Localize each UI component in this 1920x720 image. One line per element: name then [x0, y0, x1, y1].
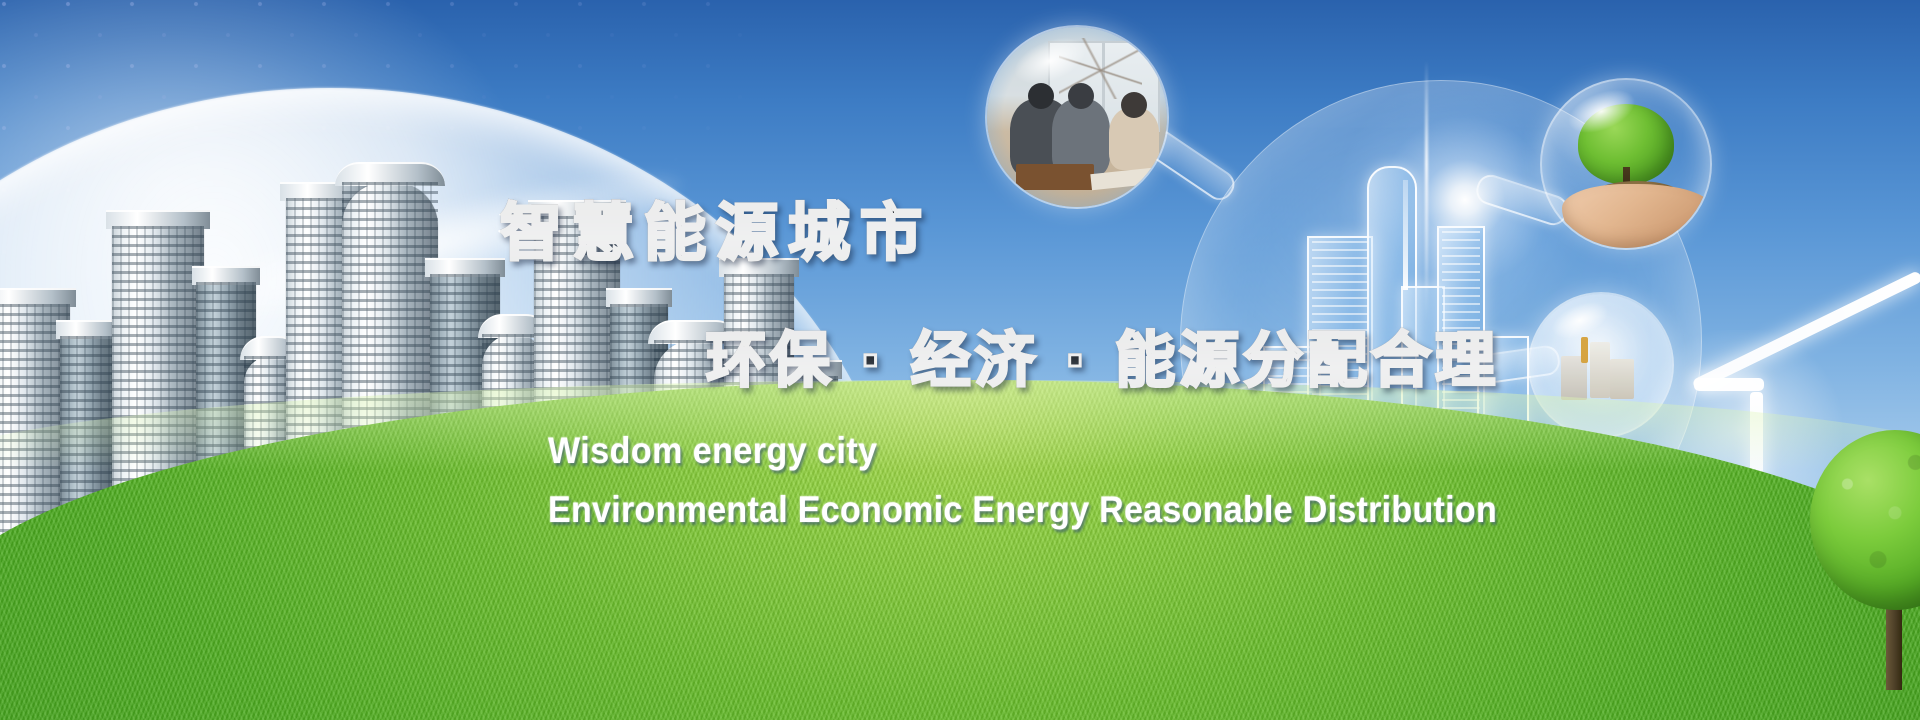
house-eave: [1694, 378, 1764, 391]
person-head: [1028, 83, 1054, 109]
bubble-tree-in-hand: [1540, 78, 1712, 250]
tower-cap: [606, 288, 672, 307]
tower-cap: [192, 266, 260, 285]
glass-building-spire: [1403, 180, 1408, 290]
hand-icon: [1562, 184, 1712, 250]
town-tower: [1581, 337, 1588, 363]
tower-cap: [106, 210, 211, 229]
child-figure: [1109, 108, 1159, 170]
tower-cap: [425, 258, 505, 277]
wooden-box: [1016, 164, 1094, 190]
tower-cap: [0, 288, 76, 307]
subheadline-chinese: 环保 · 经济 · 能源分配合理: [706, 312, 1499, 399]
round-tree: [1810, 430, 1920, 720]
energy-city-banner: 智慧能源城市 环保 · 经济 · 能源分配合理 Wisdom energy ci…: [0, 0, 1920, 720]
headline-english: Wisdom energy city: [548, 430, 878, 472]
headline-chinese: 智慧能源城市: [500, 182, 932, 272]
grass-hill: [0, 380, 1920, 720]
tree-crown: [1810, 430, 1920, 610]
town-building: [1590, 342, 1610, 398]
person-head: [1121, 92, 1147, 118]
tower-cap: [335, 162, 444, 186]
person-head: [1068, 83, 1094, 109]
town-building: [1561, 356, 1587, 400]
subheadline-english: Environmental Economic Energy Reasonable…: [548, 489, 1497, 531]
bubble-family: [985, 25, 1169, 209]
